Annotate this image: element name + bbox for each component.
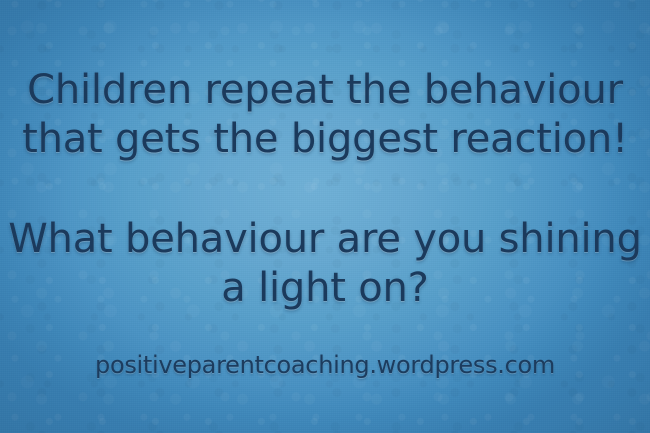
quote-question-line-2: a light on? — [0, 264, 650, 313]
quote-question-line-1: What behaviour are you shining — [0, 215, 650, 264]
quote-block-primary: Children repeat the behaviour that gets … — [0, 66, 650, 164]
attribution-url[interactable]: positiveparentcoaching.wordpress.com — [95, 351, 555, 379]
quote-primary-line-1: Children repeat the behaviour — [0, 66, 650, 115]
quote-poster: Children repeat the behaviour that gets … — [0, 0, 650, 433]
poster-content: Children repeat the behaviour that gets … — [0, 0, 650, 433]
quote-primary-line-2: that gets the biggest reaction! — [0, 115, 650, 164]
quote-block-question: What behaviour are you shining a light o… — [0, 215, 650, 313]
